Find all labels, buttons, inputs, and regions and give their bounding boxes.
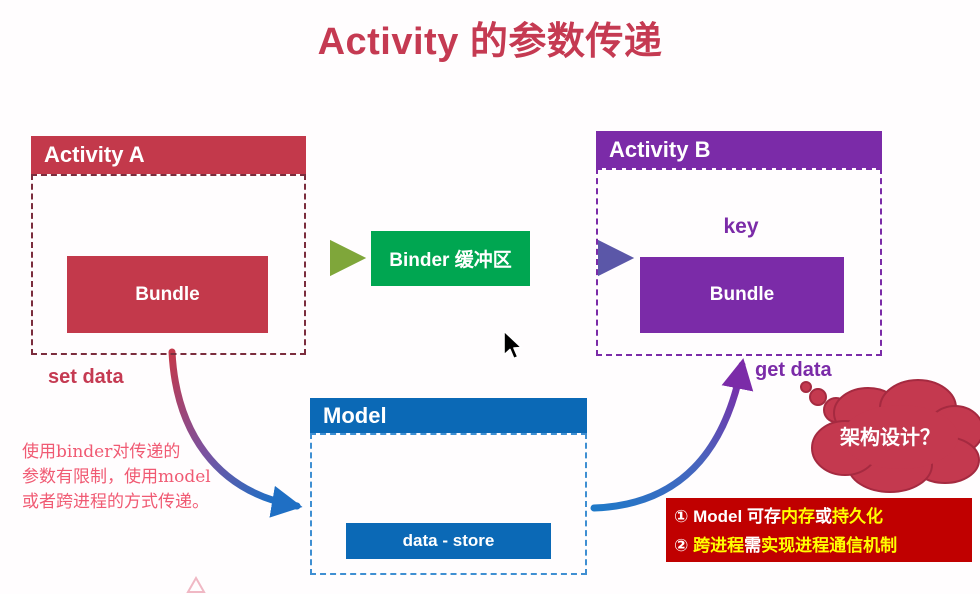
slide-canvas: Activity 的参数传递	[0, 0, 980, 594]
activity-a-panel: Activity A Bundle	[31, 136, 306, 355]
model-panel: Model data - store	[310, 398, 587, 575]
callout-2-seg2: 需	[744, 536, 761, 555]
activity-b-header: Activity B	[596, 131, 882, 168]
red-callout-box: ① Model 可存内存或持久化 ② 跨进程需实现进程通信机制	[666, 498, 972, 562]
get-data-label: get data	[755, 359, 832, 382]
callout-1-hl2: 持久化	[832, 507, 883, 526]
activity-a-header: Activity A	[31, 136, 306, 174]
callout-1-seg1: Model 可存	[693, 507, 781, 526]
bundle-b-box: Bundle	[640, 257, 844, 333]
activity-b-panel: Activity B key Bundle	[596, 131, 882, 356]
thought-cloud-text: 架构设计？	[782, 390, 980, 480]
model-body: data - store	[310, 433, 587, 575]
mouse-pointer-icon	[502, 330, 524, 362]
activity-a-body: Bundle	[31, 174, 306, 355]
activity-b-body: key Bundle	[596, 168, 882, 356]
callout-line-1: ① Model 可存内存或持久化	[674, 502, 972, 531]
callout-2-hl2: 实现进程通信机制	[761, 536, 897, 555]
key-label: key	[598, 215, 884, 239]
data-store-box: data - store	[346, 523, 551, 559]
callout-1-num: ①	[674, 507, 693, 526]
arrow-model-to-get-data	[594, 365, 742, 508]
model-header: Model	[310, 398, 587, 433]
callout-line-2: ② 跨进程需实现进程通信机制	[674, 531, 972, 560]
callout-2-num: ②	[674, 536, 693, 555]
note-text: 使用binder对传递的 参数有限制，使用model 或者跨进程的方式传递。	[22, 440, 272, 515]
bottom-watermark-icon	[188, 578, 204, 592]
callout-1-hl1: 内存	[781, 507, 815, 526]
bundle-a-box: Bundle	[67, 256, 268, 333]
callout-1-seg2: 或	[815, 507, 832, 526]
set-data-label: set data	[48, 366, 124, 389]
binder-buffer-box: Binder 缓冲区	[371, 231, 530, 286]
thought-cloud-callout: 架构设计？	[782, 390, 980, 480]
callout-2-hl1: 跨进程	[693, 536, 744, 555]
